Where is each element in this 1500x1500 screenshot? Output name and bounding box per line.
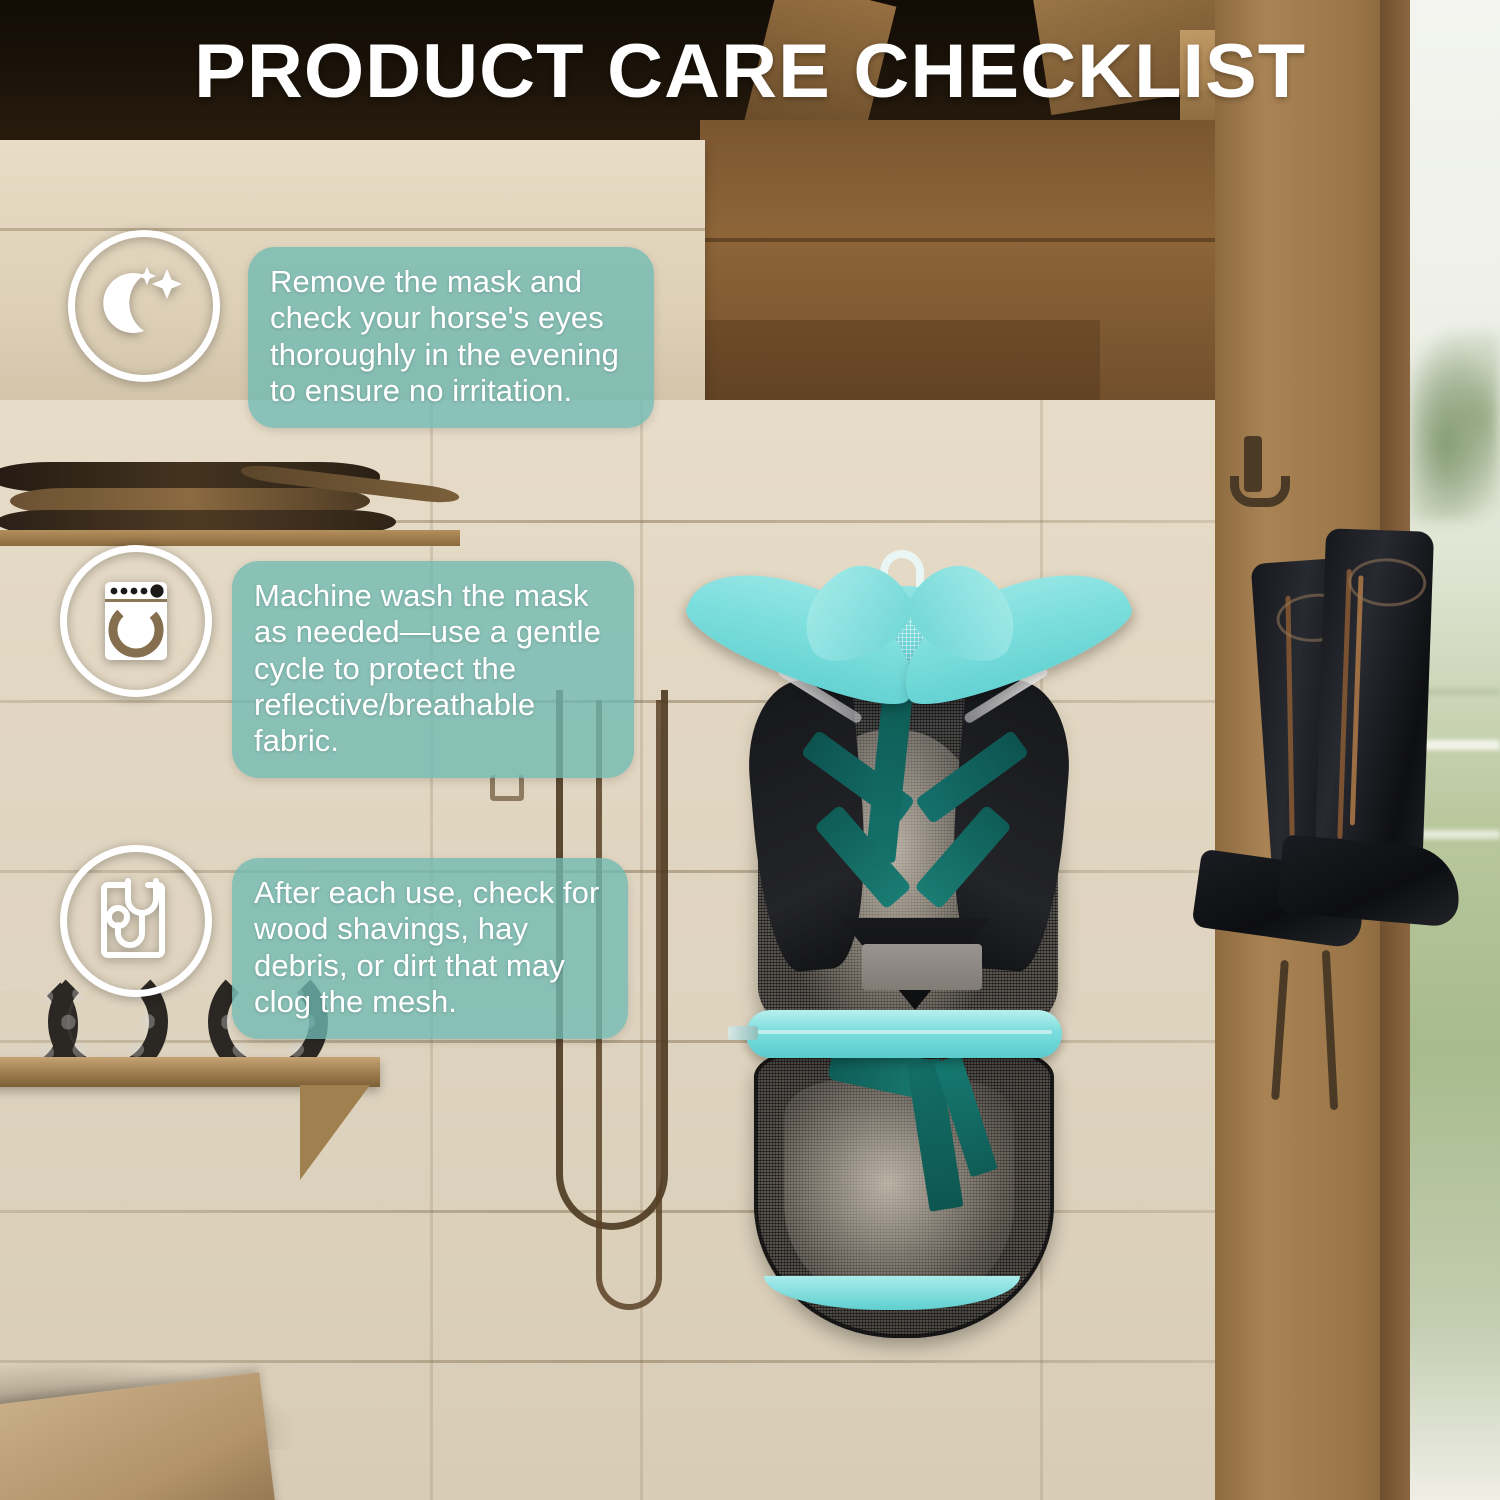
shelf-bracket [300, 1085, 370, 1180]
checklist-item-1: Remove the mask and check your horse's e… [68, 230, 654, 428]
infographic-canvas: PRODUCT CARE CHECKLIST Remove the mask a… [0, 0, 1500, 1500]
washing-machine-icon [60, 545, 212, 697]
tack-shelf [0, 530, 460, 546]
outdoor-trees [1408, 330, 1500, 520]
checklist-item-3: After each use, check for wood shavings,… [60, 845, 628, 1039]
wall-hook [490, 775, 524, 801]
stethoscope-clipboard-icon [60, 845, 212, 997]
checklist-text-1: Remove the mask and check your horse's e… [248, 247, 654, 428]
page-title: PRODUCT CARE CHECKLIST [40, 34, 1460, 110]
page-title-text: PRODUCT CARE CHECKLIST [194, 34, 1306, 110]
riding-boot-right [1314, 528, 1434, 882]
mask-grey-patch [862, 944, 982, 990]
checklist-text-3: After each use, check for wood shavings,… [232, 858, 628, 1039]
checklist-text-2: Machine wash the mask as needed—use a ge… [232, 561, 634, 778]
checklist-item-2: Machine wash the mask as needed—use a ge… [60, 545, 634, 778]
mask-zipper-pull [728, 1026, 758, 1040]
moon-stars-icon [68, 230, 220, 382]
mask-fleece-band [746, 1010, 1062, 1058]
horse-fly-mask-product [680, 540, 1150, 1340]
wooden-shelf [0, 1057, 380, 1087]
boot-hook [1244, 436, 1262, 492]
